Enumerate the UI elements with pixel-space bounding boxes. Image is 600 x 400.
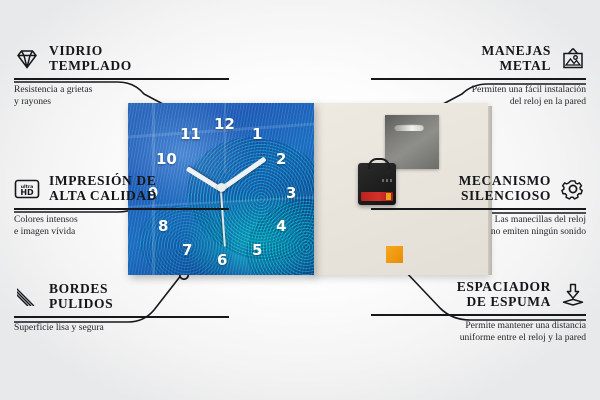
callout-espaciador-de-espuma: ESPACIADOR DE ESPUMA Permite mantener un… [371,280,586,344]
callout-description: Permiten una fácil instalación del reloj… [371,84,586,108]
divider [371,78,586,80]
clock-numeral-1: 1 [252,127,262,142]
divider [371,208,586,210]
callout-description: Las manecillas del reloj no emiten ningú… [371,214,586,238]
hanger-keyhole-slot [394,124,424,131]
callout-bordes-pulidos: BORDES PULIDOS Superficie lisa y segura [14,282,229,334]
callout-title: BORDES PULIDOS [49,282,113,311]
hatched-triangle-icon [14,285,40,309]
callout-title: MANEJAS METAL [482,44,551,73]
clock-numeral-12: 12 [214,117,235,132]
arrow-onto-slab-icon [560,283,586,307]
diamond-icon [14,47,40,71]
ultra-hd-icon: ultra HD [14,177,40,201]
callout-title: ESPACIADOR DE ESPUMA [457,280,551,309]
callout-title: IMPRESIÓN DE ALTA CALIDAD [49,174,157,203]
clock-numeral-2: 2 [276,152,286,167]
callout-vidrio-templado: VIDRIO TEMPLADO Resistencia a grietas y … [14,44,229,108]
callout-mecanismo-silencioso: MECANISMO SILENCIOSO Las manecillas del … [371,174,586,238]
framed-picture-hanger-icon [560,47,586,71]
callout-description: Resistencia a grietas y rayones [14,84,229,108]
clock-numeral-6: 6 [217,253,227,268]
movement-hanging-loop [368,158,390,169]
foam-spacer [386,246,403,263]
callout-title: VIDRIO TEMPLADO [49,44,132,73]
callout-description: Permite mantener una distancia uniforme … [371,320,586,344]
clock-numeral-3: 3 [286,186,296,201]
clock-numeral-11: 11 [180,127,201,142]
divider [14,208,229,210]
clock-numeral-7: 7 [182,243,192,258]
metal-hanger-plate [385,115,439,169]
divider [14,316,229,318]
divider [371,314,586,316]
callout-description: Colores intensos e imagen vívida [14,214,229,238]
callout-title: MECANISMO SILENCIOSO [459,174,551,203]
divider [14,78,229,80]
gear-icon [560,177,586,201]
clock-numeral-4: 4 [276,219,286,234]
infographic-canvas: 12 1 2 3 4 5 6 7 8 9 10 11 [0,0,600,400]
callout-impresion-alta-calidad: ultra HD IMPRESIÓN DE ALTA CALIDAD Color… [14,174,229,238]
svg-text:HD: HD [20,188,34,197]
callout-manejas-metal: MANEJAS METAL Permiten una fácil instala… [371,44,586,108]
light-streak [224,103,226,173]
callout-description: Superficie lisa y segura [14,322,229,334]
clock-numeral-5: 5 [252,243,262,258]
clock-numeral-10: 10 [156,152,177,167]
